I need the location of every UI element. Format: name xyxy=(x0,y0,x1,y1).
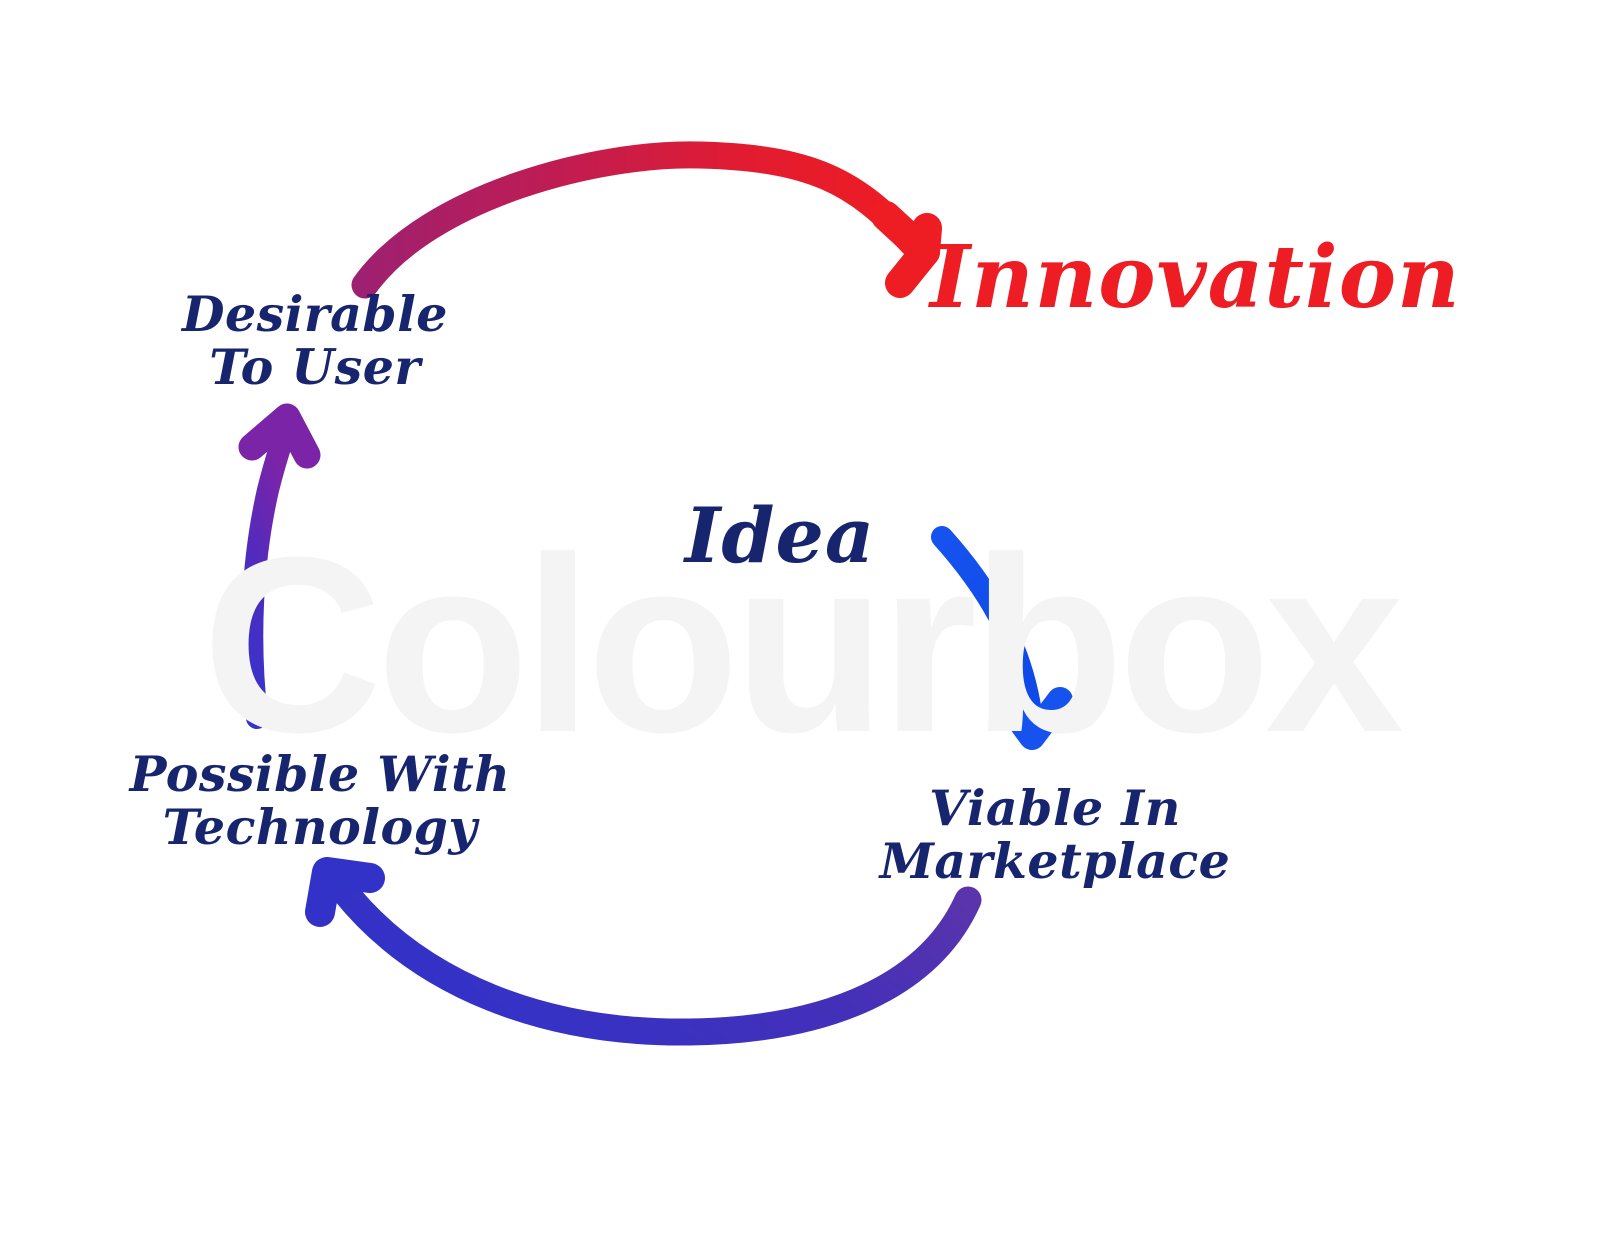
arrow-desirable-to-innovation xyxy=(365,155,927,285)
node-label-innovation: Innovation xyxy=(930,232,1520,325)
node-label-viable-in-marketplace: Viable In Marketplace xyxy=(870,782,1240,888)
arrow-idea-to-viable xyxy=(942,537,1060,737)
arrow-possible-to-desirable xyxy=(252,417,307,718)
node-label-desirable-to-user: Desirable To User xyxy=(150,288,480,394)
arrow-viable-to-possible xyxy=(320,872,968,1032)
node-label-possible-with-technology: Possible With Technology xyxy=(110,748,530,854)
node-label-idea: Idea xyxy=(620,495,940,577)
diagram-canvas xyxy=(0,0,1600,1252)
